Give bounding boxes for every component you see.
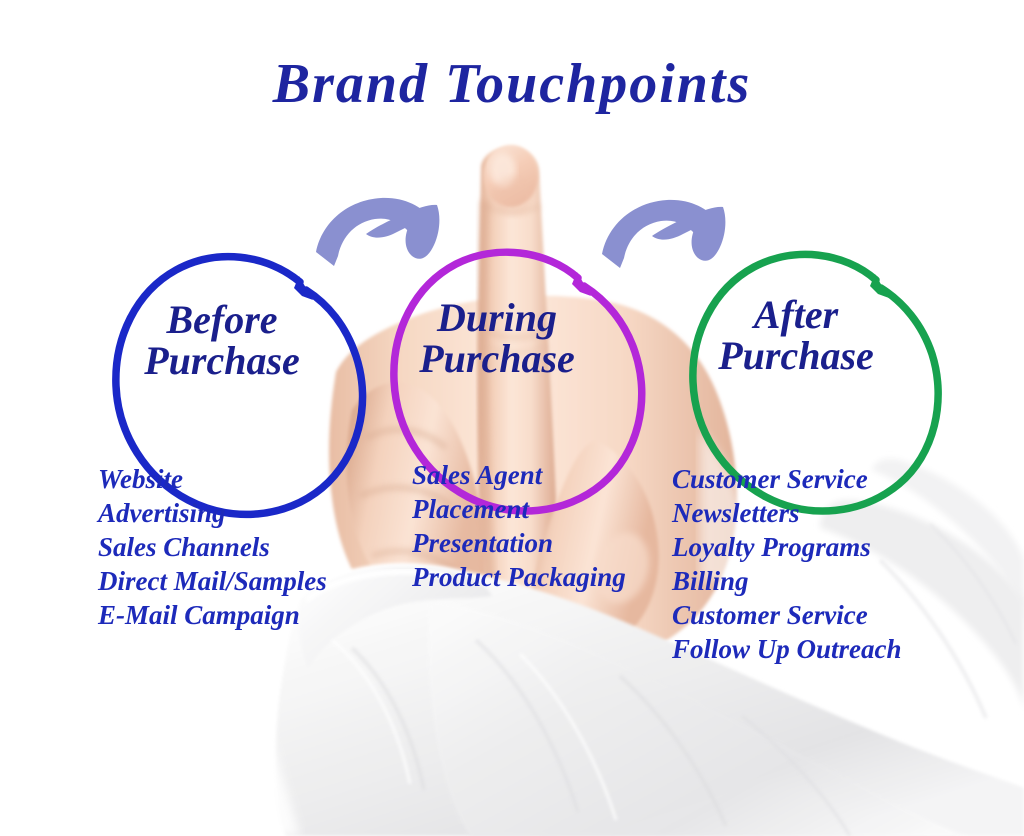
circle-label-before-line1: Before <box>118 300 326 341</box>
list-item: Advertising <box>98 496 327 530</box>
list-item: Follow Up Outreach <box>672 632 902 666</box>
list-item: Placement <box>412 492 626 526</box>
list-item: Loyalty Programs <box>672 530 902 564</box>
list-item: Website <box>98 462 327 496</box>
list-item: Sales Agent <box>412 458 626 492</box>
circle-label-after-line1: After <box>690 295 902 336</box>
circle-label-after: After Purchase <box>690 295 902 377</box>
arrow-before-to-during-icon <box>316 198 439 266</box>
list-item: Product Packaging <box>412 560 626 594</box>
touchpoint-list-before: Website Advertising Sales Channels Direc… <box>98 462 327 632</box>
circle-label-before: Before Purchase <box>118 300 326 382</box>
circle-label-after-line2: Purchase <box>690 336 902 377</box>
diagram-graphics <box>0 0 1024 836</box>
arrow-during-to-after-icon <box>602 200 725 268</box>
circle-label-during-line1: During <box>392 298 602 339</box>
list-item: Customer Service <box>672 598 902 632</box>
touchpoint-list-after: Customer Service Newsletters Loyalty Pro… <box>672 462 902 666</box>
circle-label-before-line2: Purchase <box>118 341 326 382</box>
list-item: Sales Channels <box>98 530 327 564</box>
list-item: Presentation <box>412 526 626 560</box>
diagram-canvas: Brand Touchpoints Before Purchase During… <box>0 0 1024 836</box>
page-title: Brand Touchpoints <box>0 52 1024 116</box>
circle-label-during: During Purchase <box>392 298 602 380</box>
touchpoint-list-during: Sales Agent Placement Presentation Produ… <box>412 458 626 594</box>
list-item: Newsletters <box>672 496 902 530</box>
list-item: Direct Mail/Samples <box>98 564 327 598</box>
list-item: E-Mail Campaign <box>98 598 327 632</box>
circle-label-during-line2: Purchase <box>392 339 602 380</box>
list-item: Billing <box>672 564 902 598</box>
list-item: Customer Service <box>672 462 902 496</box>
